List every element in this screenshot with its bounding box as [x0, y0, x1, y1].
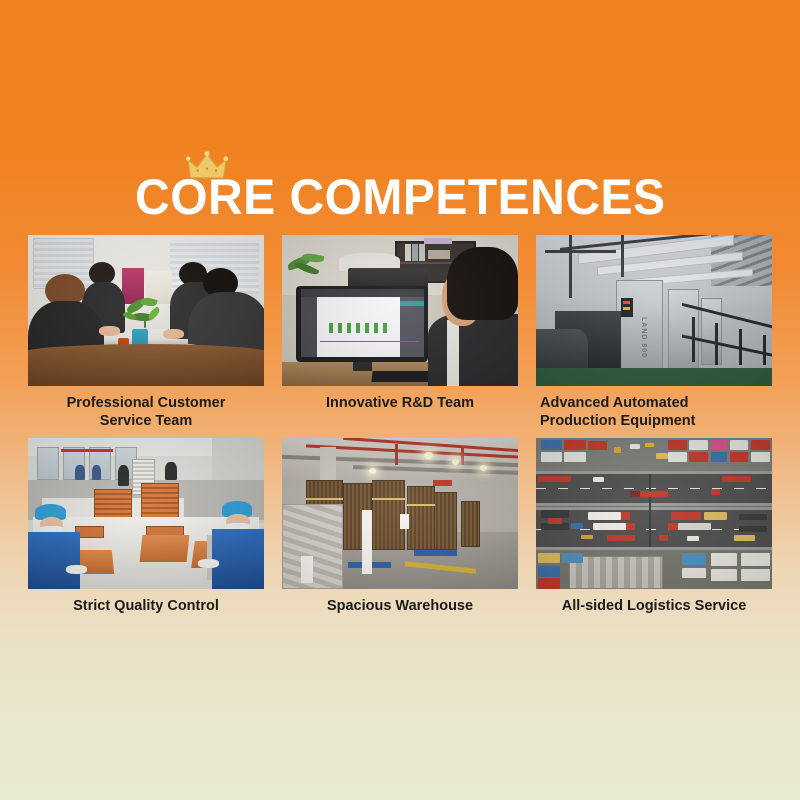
caption-strict-quality-control: Strict Quality Control [28, 589, 264, 629]
card-all-sided-logistics-service[interactable]: All-sided Logistics Service [536, 438, 772, 629]
photo-office-meeting [28, 235, 264, 386]
caption-line-1: All-sided Logistics Service [536, 597, 772, 615]
caption-line-1: Spacious Warehouse [282, 597, 518, 615]
card-spacious-warehouse[interactable]: Spacious Warehouse [282, 438, 518, 629]
photo-printing-press: LAND 800 [536, 235, 772, 386]
photo-warehouse [282, 438, 518, 589]
competences-grid: Professional Customer Service Team [28, 235, 772, 629]
photo-quality-control [28, 438, 264, 589]
caption-line-1: Innovative R&D Team [282, 394, 518, 412]
caption-line-2: Production Equipment [540, 412, 772, 430]
caption-all-sided-logistics-service: All-sided Logistics Service [536, 589, 772, 629]
card-professional-customer-service-team[interactable]: Professional Customer Service Team [28, 235, 264, 430]
caption-spacious-warehouse: Spacious Warehouse [282, 589, 518, 629]
press-model-text: LAND 800 [640, 317, 647, 358]
caption-line-2: Service Team [28, 412, 264, 430]
caption-line-1: Professional Customer [28, 394, 264, 412]
photo-rd-designer [282, 235, 518, 386]
caption-line-1: Strict Quality Control [28, 597, 264, 615]
crown-icon [185, 150, 229, 182]
photo-logistics-aerial [536, 438, 772, 589]
card-strict-quality-control[interactable]: Strict Quality Control [28, 438, 264, 629]
page-header: CORE COMPETENCES [0, 150, 800, 226]
caption-line-1: Advanced Automated [540, 394, 772, 412]
caption-professional-customer-service-team: Professional Customer Service Team [28, 386, 264, 430]
card-advanced-automated-production-equipment[interactable]: LAND 800 Advanced Automated Production E… [536, 235, 772, 430]
card-innovative-rd-team[interactable]: Innovative R&D Team [282, 235, 518, 430]
caption-innovative-rd-team: Innovative R&D Team [282, 386, 518, 426]
caption-advanced-automated-production-equipment: Advanced Automated Production Equipment [536, 386, 772, 430]
